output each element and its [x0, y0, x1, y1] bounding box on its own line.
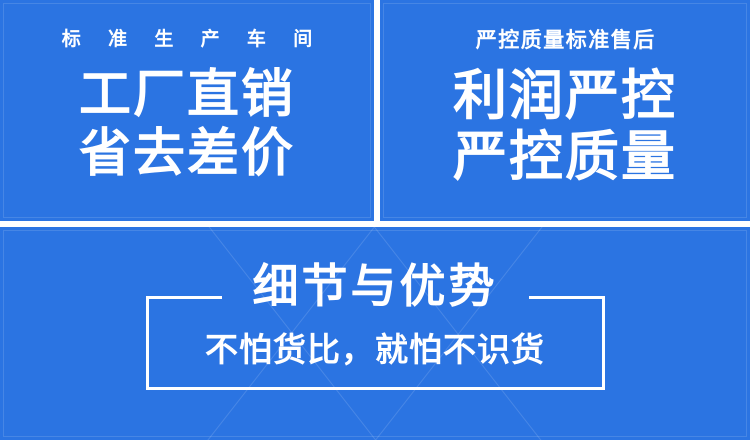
bottom-subtitle: 不怕货比，就怕不识货 [0, 333, 750, 366]
bottom-title: 细节与优势 [0, 263, 750, 309]
panel-details-advantages-content: 细节与优势 不怕货比，就怕不识货 [0, 0, 750, 440]
promo-banner: 标 准 生 产 车 间 工厂直销 省去差价 严控质量标准售后 利润严控 严控质量… [0, 0, 750, 440]
